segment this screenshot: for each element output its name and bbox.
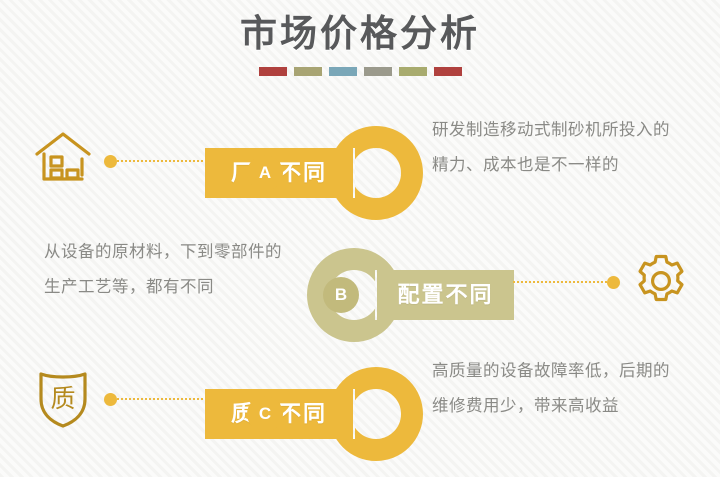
- badge-b: B: [323, 277, 359, 313]
- connector-dotted-c: [117, 398, 207, 400]
- banner-label-b: 配置不同: [397, 270, 493, 320]
- connector-dot-b: [607, 276, 620, 289]
- banner-bar-b[interactable]: 配置不同: [377, 270, 514, 320]
- badge-a: A: [247, 155, 283, 191]
- connector-dotted-b: [513, 281, 607, 283]
- connector-line-b: [513, 275, 620, 289]
- connector-dot-c: [104, 393, 117, 406]
- title-dash-4: [364, 67, 392, 76]
- description-b: 从设备的原材料，下到零部件的生产工艺等，都有不同: [44, 235, 284, 305]
- title-dash-row: [0, 67, 720, 76]
- gear-icon: [624, 244, 698, 318]
- badge-c: C: [247, 396, 283, 432]
- connector-dot-a: [104, 155, 117, 168]
- page-title: 市场价格分析: [0, 8, 720, 60]
- factory-house-icon: [26, 120, 100, 194]
- connector-line-c: [104, 392, 207, 406]
- description-a: 研发制造移动式制砂机所投入的精力、成本也是不一样的: [432, 113, 672, 183]
- title-block: 市场价格分析: [0, 8, 720, 76]
- title-dash-1: [259, 67, 287, 76]
- title-dash-3: [329, 67, 357, 76]
- shield-glyph: 质: [50, 385, 75, 413]
- feature-row-b: 从设备的原材料，下到零部件的生产工艺等，都有不同 配置不同 B: [0, 226, 720, 346]
- feature-row-c: 质 质量不同 C 高质量的设备故障率低，后期的维修费用少，带来高收益: [0, 345, 720, 465]
- feature-row-a: 厂家不同 A 研发制造移动式制砂机所投入的精力、成本也是不一样的: [0, 104, 720, 224]
- title-dash-2: [294, 67, 322, 76]
- connector-line-a: [104, 154, 207, 168]
- title-dash-5: [399, 67, 427, 76]
- quality-shield-icon: 质: [26, 361, 100, 435]
- connector-dotted-a: [117, 160, 207, 162]
- title-dash-6: [434, 67, 462, 76]
- description-c: 高质量的设备故障率低，后期的维修费用少，带来高收益: [432, 354, 672, 424]
